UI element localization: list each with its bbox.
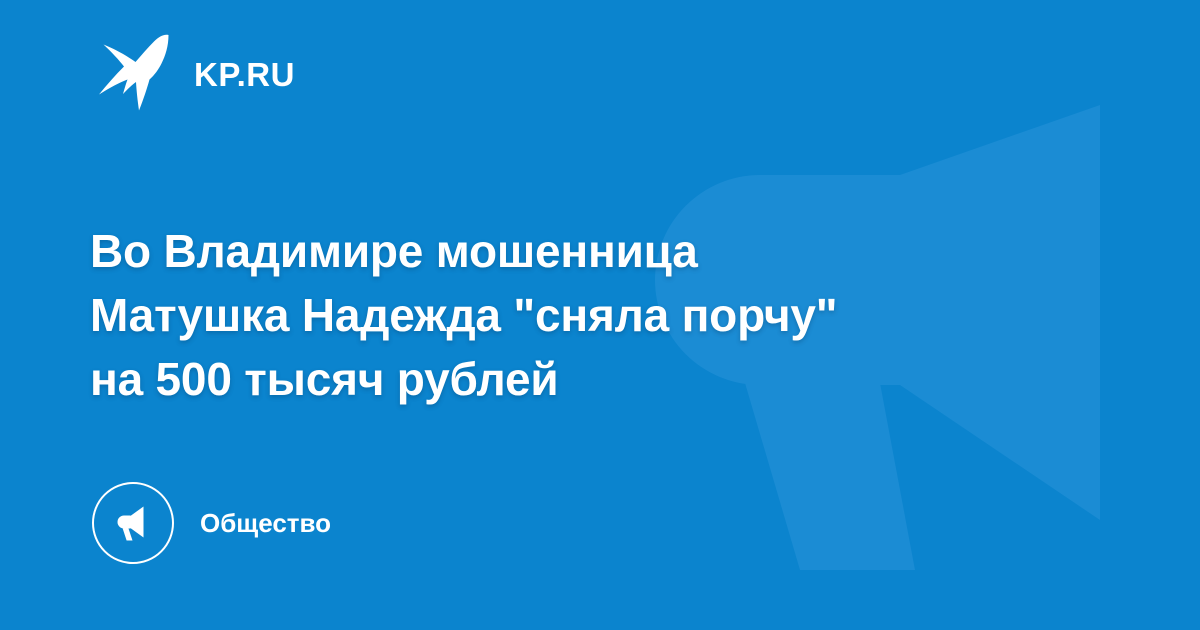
headline-line-1: Во Владимире мошенница (90, 219, 1100, 283)
megaphone-icon (111, 501, 155, 545)
headline-line-2: Матушка Надежда "сняла порчу" (90, 283, 1100, 347)
swallow-bird-icon (98, 33, 172, 111)
headline-line-3: на 500 тысяч рублей (90, 347, 1100, 411)
article-share-card: KP.RU Во Владимире мошенница Матушка Над… (0, 0, 1200, 630)
category-label: Общество (200, 510, 331, 536)
category-icon-circle (92, 482, 174, 564)
category-badge[interactable]: Общество (92, 482, 331, 564)
page-title: Во Владимире мошенница Матушка Надежда "… (90, 219, 1100, 411)
brand-wordmark: KP.RU (194, 58, 295, 91)
brand-logo[interactable]: KP.RU (98, 33, 295, 111)
